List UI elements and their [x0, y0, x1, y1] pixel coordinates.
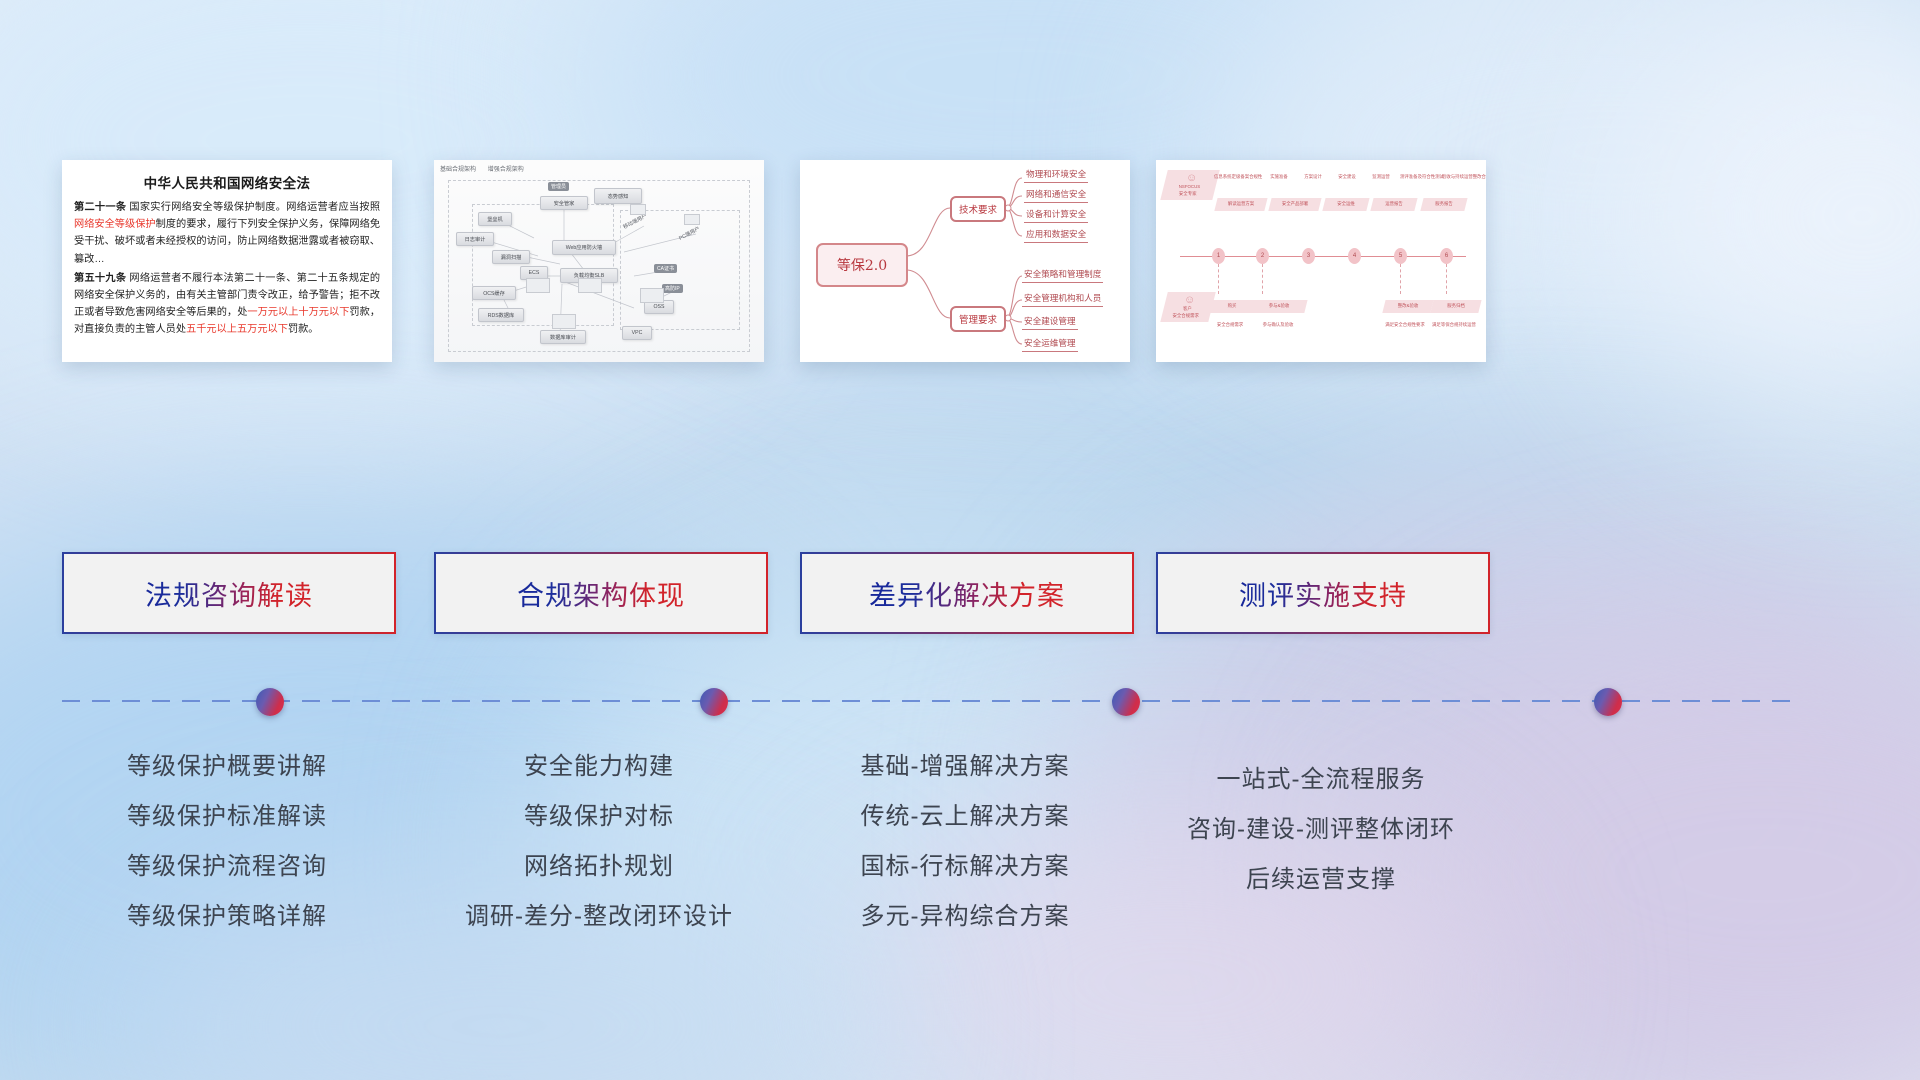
timeline-node-4[interactable]	[1594, 688, 1622, 716]
detail-columns: 等级保护概要讲解 等级保护标准解读 等级保护流程咨询 等级保护策略详解 安全能力…	[0, 0, 1920, 1080]
list-item: 基础-增强解决方案	[800, 742, 1130, 792]
list-item: 等级保护流程咨询	[62, 842, 392, 892]
timeline-node-3[interactable]	[1112, 688, 1140, 716]
detail-column-solution: 基础-增强解决方案 传统-云上解决方案 国标-行标解决方案 多元-异构综合方案	[800, 742, 1130, 942]
detail-column-regulation: 等级保护概要讲解 等级保护标准解读 等级保护流程咨询 等级保护策略详解	[62, 742, 392, 942]
list-item: 多元-异构综合方案	[800, 892, 1130, 942]
list-item: 等级保护对标	[434, 792, 764, 842]
list-item: 后续运营支撑	[1156, 855, 1486, 905]
list-item: 安全能力构建	[434, 742, 764, 792]
list-item: 咨询-建设-测评整体闭环	[1156, 805, 1486, 855]
timeline-node-2[interactable]	[700, 688, 728, 716]
list-item: 网络拓扑规划	[434, 842, 764, 892]
list-item: 等级保护标准解读	[62, 792, 392, 842]
list-item: 一站式-全流程服务	[1156, 755, 1486, 805]
timeline-node-1[interactable]	[256, 688, 284, 716]
list-item: 等级保护概要讲解	[62, 742, 392, 792]
list-item: 等级保护策略详解	[62, 892, 392, 942]
list-item: 传统-云上解决方案	[800, 792, 1130, 842]
list-item: 国标-行标解决方案	[800, 842, 1130, 892]
list-item: 调研-差分-整改闭环设计	[434, 892, 764, 942]
detail-column-evaluation: 一站式-全流程服务 咨询-建设-测评整体闭环 后续运营支撑	[1156, 755, 1486, 905]
detail-column-architecture: 安全能力构建 等级保护对标 网络拓扑规划 调研-差分-整改闭环设计	[434, 742, 764, 942]
